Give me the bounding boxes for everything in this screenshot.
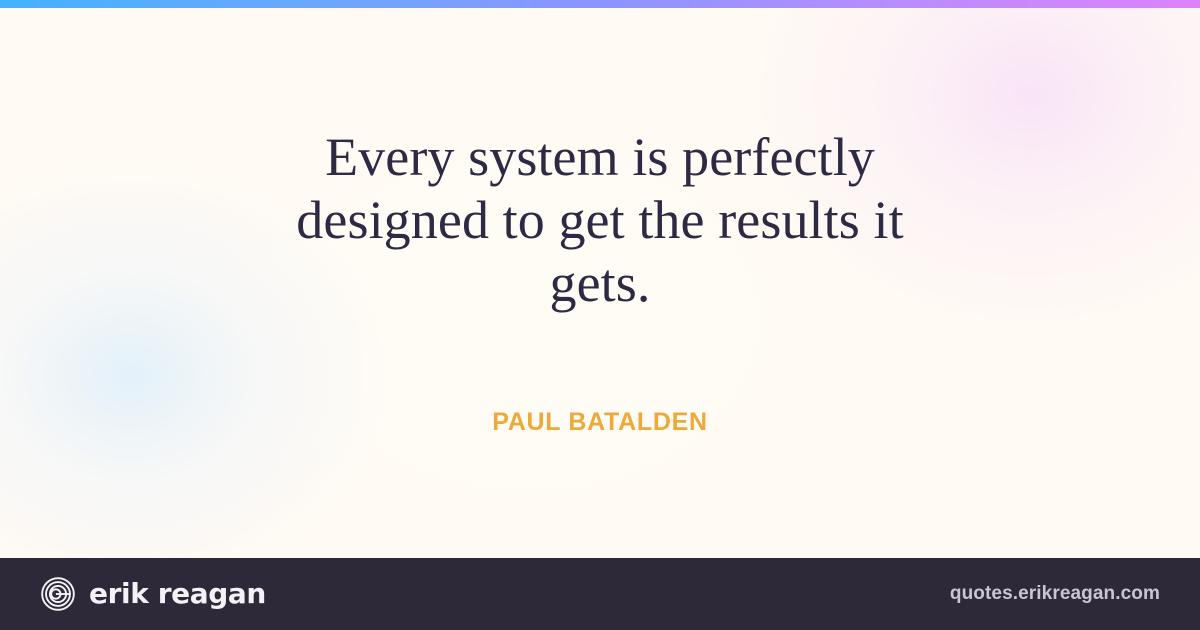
brand-name-label: erik reagan bbox=[89, 580, 266, 608]
brand-lockup[interactable]: erik reagan bbox=[40, 576, 266, 612]
quote-author: PAUL BATALDEN bbox=[492, 408, 708, 437]
footer-bar: erik reagan quotes.erikreagan.com bbox=[0, 558, 1200, 630]
site-url-label[interactable]: quotes.erikreagan.com bbox=[950, 583, 1160, 605]
quote-text: Every system is perfectly designed to ge… bbox=[295, 126, 905, 316]
top-gradient-bar bbox=[0, 0, 1200, 8]
quote-card: Every system is perfectly designed to ge… bbox=[0, 0, 1200, 630]
concentric-e-logo-icon bbox=[40, 576, 76, 612]
quote-stage: Every system is perfectly designed to ge… bbox=[0, 8, 1200, 558]
